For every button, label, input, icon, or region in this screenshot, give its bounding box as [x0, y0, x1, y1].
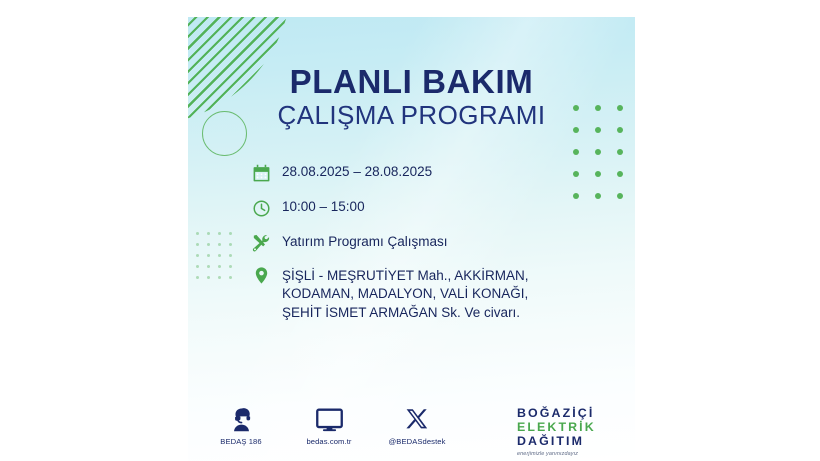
calendar-icon: [246, 161, 276, 185]
dot-grid-left-decoration: [196, 232, 240, 287]
x-twitter-icon: [386, 402, 448, 432]
contact-website-label: bedas.com.tr: [298, 437, 360, 446]
address-line: KODAMAN, MADALYON, VALİ KONAĞI,: [282, 285, 529, 303]
detail-time-text: 10:00 – 15:00: [282, 196, 365, 216]
detail-row-time: 10:00 – 15:00: [246, 196, 616, 220]
call-center-agent-icon: [210, 402, 272, 432]
brand-line-bogazici: BOĞAZİÇİ: [517, 407, 596, 421]
detail-row-address: ŞİŞLİ - MEŞRUTİYET Mah., AKKİRMAN, KODAM…: [246, 266, 616, 322]
detail-work-type-text: Yatırım Programı Çalışması: [282, 231, 448, 251]
page-title: PLANLI BAKIM: [188, 65, 635, 99]
brand-tagline: enerjimizle yanınızdayız: [517, 451, 596, 457]
contact-website[interactable]: bedas.com.tr: [298, 402, 360, 446]
monitor-icon: [298, 402, 360, 432]
clock-icon: [246, 196, 276, 220]
bedas-logo: BOĞAZİÇİ ELEKTRİK DAĞITIM enerjimizle ya…: [517, 407, 596, 457]
detail-row-date: 28.08.2025 – 28.08.2025: [246, 161, 616, 185]
poster-title-block: PLANLI BAKIM ÇALIŞMA PROGRAMI: [188, 65, 635, 130]
brand-line-dagitim: DAĞITIM: [517, 435, 596, 449]
contact-social-label: @BEDASdestek: [386, 437, 448, 446]
page-subtitle: ÇALIŞMA PROGRAMI: [188, 101, 635, 130]
detail-address-text: ŞİŞLİ - MEŞRUTİYET Mah., AKKİRMAN, KODAM…: [282, 266, 529, 322]
address-line: ŞEHİT İSMET ARMAĞAN Sk. Ve civarı.: [282, 304, 529, 322]
detail-date-text: 28.08.2025 – 28.08.2025: [282, 161, 432, 181]
detail-row-work-type: Yatırım Programı Çalışması: [246, 231, 616, 255]
poster-screenshot: PLANLI BAKIM ÇALIŞMA PROGRAMI 28.08.2025…: [0, 0, 820, 461]
planned-maintenance-poster: PLANLI BAKIM ÇALIŞMA PROGRAMI 28.08.2025…: [188, 17, 635, 461]
contact-phone-label: BEDAŞ 186: [210, 437, 272, 446]
address-line: ŞİŞLİ - MEŞRUTİYET Mah., AKKİRMAN,: [282, 267, 529, 285]
maintenance-details: 28.08.2025 – 28.08.2025 10:00 – 15:00: [246, 161, 616, 333]
contact-social[interactable]: @BEDASdestek: [386, 402, 448, 446]
location-pin-icon: [246, 266, 276, 288]
tools-icon: [246, 231, 276, 255]
contact-phone[interactable]: BEDAŞ 186: [210, 402, 272, 446]
brand-line-elektrik: ELEKTRİK: [517, 421, 596, 435]
footer-contact-list: BEDAŞ 186 bedas.com.tr: [210, 402, 448, 446]
